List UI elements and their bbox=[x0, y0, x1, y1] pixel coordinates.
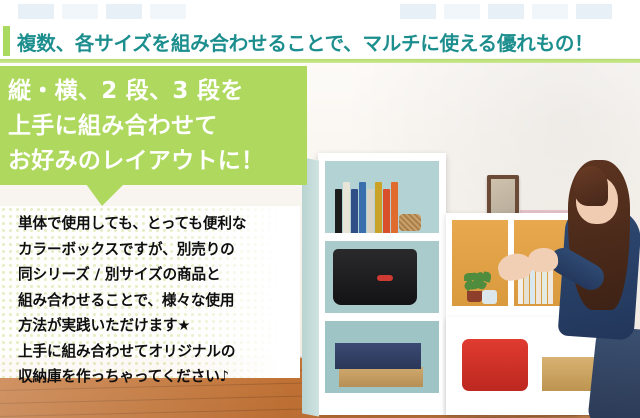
cat-jar bbox=[482, 290, 497, 304]
plant-pot bbox=[467, 291, 482, 302]
header-strip: 複数、各サイズを組み合わせることで、マルチに使える優れもの！ bbox=[0, 22, 640, 60]
check-square bbox=[400, 4, 436, 19]
bag-logo-tag bbox=[377, 275, 393, 281]
body-copy-line-7: 収納庫を作っちゃってください♪ bbox=[18, 364, 308, 390]
header-headline: 複数、各サイズを組み合わせることで、マルチに使える優れもの！ bbox=[17, 27, 593, 56]
navy-storage-box bbox=[335, 343, 421, 369]
mint-three-tier-shelf bbox=[318, 153, 446, 415]
check-square bbox=[488, 4, 524, 19]
banner-text-block: 縦・横、2 段、3 段を上手に組み合わせてお好みのレイアウトに！ bbox=[8, 74, 301, 179]
body-copy-line-4: 組み合わせることで、様々な使用 bbox=[18, 288, 308, 314]
woman-hair-front bbox=[574, 166, 608, 206]
check-square bbox=[106, 4, 142, 19]
shelf-cube-top bbox=[325, 161, 439, 233]
woman-placing-red-box bbox=[540, 146, 640, 418]
book bbox=[343, 182, 350, 233]
shelf-cube-middle bbox=[325, 241, 439, 313]
check-square bbox=[18, 4, 54, 19]
check-pattern-strip bbox=[0, 0, 640, 24]
woven-basket bbox=[399, 214, 421, 231]
body-copy-line-5: 方法が実践いただけます★ bbox=[18, 313, 308, 339]
body-copy-line-2: カラーボックスですが、別売りの bbox=[18, 237, 308, 263]
banner-line-3: お好みのレイアウトに！ bbox=[8, 144, 301, 179]
shelf-cube-bottom bbox=[325, 321, 439, 393]
body-copy-line-3: 同シリーズ / 別サイズの商品と bbox=[18, 262, 308, 288]
picture-frame bbox=[487, 175, 519, 217]
picture-frame-photo bbox=[491, 179, 515, 213]
check-square bbox=[576, 4, 612, 19]
book bbox=[359, 182, 366, 233]
tan-storage-box bbox=[339, 367, 423, 387]
book bbox=[383, 189, 390, 233]
book bbox=[367, 189, 374, 233]
check-square bbox=[150, 4, 186, 19]
banner-line-1: 縦・横、2 段、3 段を bbox=[8, 74, 301, 109]
book bbox=[391, 182, 398, 233]
woman-hand-second bbox=[527, 247, 559, 273]
body-copy-line-1: 単体で使用しても、とっても便利な bbox=[18, 211, 308, 237]
body-copy-line-6: 上手に組み合わせてオリジナルの bbox=[18, 339, 308, 365]
book bbox=[351, 189, 358, 233]
header-underline bbox=[0, 59, 640, 63]
check-square bbox=[532, 4, 568, 19]
banner-line-2: 上手に組み合わせて bbox=[8, 109, 301, 144]
banner-speech-tail bbox=[86, 184, 124, 206]
black-bag bbox=[333, 249, 417, 305]
green-callout-banner: 縦・横、2 段、3 段を上手に組み合わせてお好みのレイアウトに！ bbox=[0, 66, 307, 185]
book bbox=[335, 189, 342, 233]
check-square bbox=[444, 4, 480, 19]
red-storage-box bbox=[462, 339, 528, 391]
advertisement-banner: 複数、各サイズを組み合わせることで、マルチに使える優れもの！ 縦・横、2 段、3… bbox=[0, 0, 640, 418]
book bbox=[375, 182, 382, 233]
check-square bbox=[62, 4, 98, 19]
header-accent-bar bbox=[3, 26, 10, 56]
body-copy-block: 単体で使用しても、とっても便利なカラーボックスですが、別売りの同シリーズ / 別… bbox=[18, 211, 308, 390]
